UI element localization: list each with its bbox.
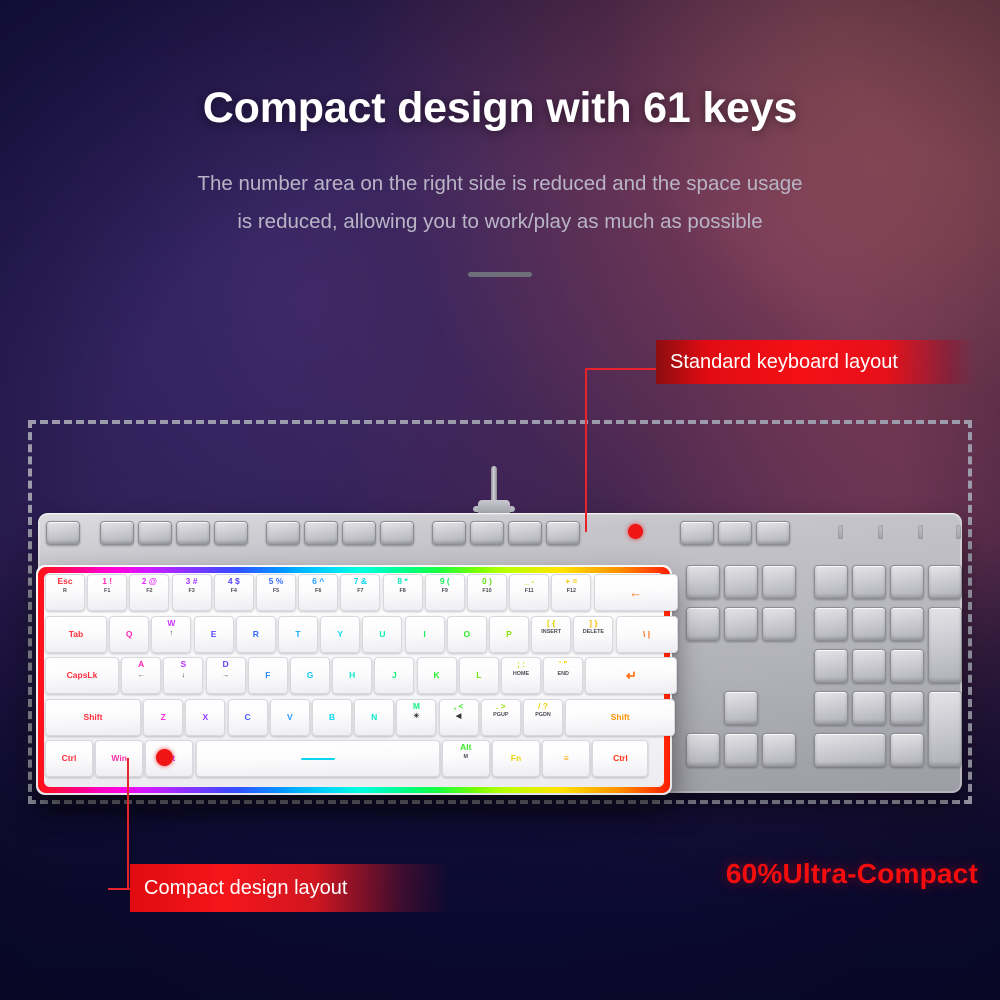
key-sublegend: F4 xyxy=(231,589,237,594)
key-sym-r3c9[interactable]: . >PGUP xyxy=(481,699,521,736)
key-sym-r1c12[interactable]: ] }DELETE xyxy=(573,616,613,653)
key-l-r2c9[interactable]: L xyxy=(459,657,499,694)
key-legend: Z xyxy=(161,713,166,722)
key-legend: W xyxy=(167,619,175,628)
key-legend: F xyxy=(265,671,270,680)
key-g-r2c5[interactable]: G xyxy=(290,657,330,694)
key-legend: 0 ) xyxy=(482,577,492,586)
subtitle-line-1: The number area on the right side is red… xyxy=(0,174,1000,195)
key-sublegend: END xyxy=(557,672,568,677)
fullsize-key-function xyxy=(214,521,248,545)
key-sublegend: → xyxy=(222,672,229,679)
spacebar-indicator xyxy=(301,758,335,760)
numpad-key xyxy=(852,691,886,725)
callout-line-top-vertical xyxy=(585,368,587,532)
key-legend: S xyxy=(181,660,187,669)
fullsize-key-nav xyxy=(762,607,796,641)
numpad-key xyxy=(890,691,924,725)
key-legend: Ctrl xyxy=(62,754,77,763)
key-tab-r1c0[interactable]: Tab xyxy=(45,616,107,653)
key-legend: K xyxy=(434,671,440,680)
key-legend: ↵ xyxy=(626,669,637,682)
key-sym-r1c11[interactable]: [ {INSERT xyxy=(531,616,571,653)
key-sublegend: F9 xyxy=(442,589,448,594)
key-legend: Alt xyxy=(460,743,471,752)
key-sublegend: F1 xyxy=(104,589,110,594)
key-sublegend: F10 xyxy=(482,589,491,594)
fullsize-key-arrow-up xyxy=(724,691,758,725)
key-legend: 5 % xyxy=(269,577,284,586)
key-z-r3c1[interactable]: Z xyxy=(143,699,183,736)
key-sym-r1c13[interactable]: \ | xyxy=(616,616,678,653)
key-sublegend: F8 xyxy=(399,589,405,594)
key-legend: R xyxy=(253,630,259,639)
key-6-r0c6[interactable]: 6 ^F6 xyxy=(298,574,338,611)
key-legend: . > xyxy=(496,702,506,711)
fullsize-key-function xyxy=(138,521,172,545)
indicator-led xyxy=(838,525,843,539)
key-d-r2c3[interactable]: D→ xyxy=(206,657,246,694)
key-sublegend: PGDN xyxy=(535,713,551,718)
key-legend: U xyxy=(379,630,385,639)
key-y-r1c6[interactable]: Y xyxy=(320,616,360,653)
numpad-key xyxy=(890,649,924,683)
callout-dot-top xyxy=(628,524,643,539)
key-shift-r3c11[interactable]: Shift xyxy=(565,699,675,736)
key-legend: J xyxy=(392,671,397,680)
key-sublegend: F7 xyxy=(357,589,363,594)
key-sublegend: HOME xyxy=(513,672,529,677)
key-7-r0c7[interactable]: 7 &F7 xyxy=(340,574,380,611)
key-legend: ' " xyxy=(559,660,567,669)
key-sym-r0c12[interactable]: + =F12 xyxy=(551,574,591,611)
key-legend: Shift xyxy=(84,713,103,722)
key-alt-r4c4[interactable]: AltM xyxy=(442,740,490,777)
key-legend: \ | xyxy=(643,630,650,639)
numpad-key xyxy=(890,607,924,641)
key-legend: Tab xyxy=(69,630,83,639)
key-legend: E xyxy=(211,630,217,639)
key-sublegend: F3 xyxy=(188,589,194,594)
key-win-r4c1[interactable]: Win xyxy=(95,740,143,777)
callout-standard-layout: Standard keyboard layout xyxy=(656,340,976,384)
key-9-r0c9[interactable]: 9 (F9 xyxy=(425,574,465,611)
fullsize-key-function xyxy=(432,521,466,545)
key-esc-r0c0[interactable]: EscR xyxy=(45,574,85,611)
key-legend: Win xyxy=(111,754,127,763)
fullsize-key-nav xyxy=(718,521,752,545)
key-b-r3c5[interactable]: B xyxy=(312,699,352,736)
fullsize-key-nav xyxy=(686,565,720,599)
rgb-backlight-ring: EscR1 !F12 @F23 #F34 $F45 %F56 ^F67 &F78… xyxy=(38,567,670,793)
key-legend: _ - xyxy=(524,577,534,586)
key-sublegend: ↑ xyxy=(170,630,174,637)
key-ctrl-r4c7[interactable]: Ctrl xyxy=(592,740,648,777)
key-shift-r3c0[interactable]: Shift xyxy=(45,699,141,736)
key-legend: O xyxy=(463,630,470,639)
key-space-r4c3[interactable] xyxy=(196,740,440,777)
fullsize-key-nav xyxy=(762,565,796,599)
key-x-r3c2[interactable]: X xyxy=(185,699,225,736)
fullsize-key-esc xyxy=(46,521,80,545)
key-f-r2c4[interactable]: F xyxy=(248,657,288,694)
ultra-compact-tagline: 60%Ultra-Compact xyxy=(0,858,978,890)
numpad-key xyxy=(852,607,886,641)
key-i-r1c8[interactable]: I xyxy=(405,616,445,653)
key-0-r0c10[interactable]: 0 )F10 xyxy=(467,574,507,611)
key-t-r1c5[interactable]: T xyxy=(278,616,318,653)
key-n-r3c6[interactable]: N xyxy=(354,699,394,736)
page-title: Compact design with 61 keys xyxy=(0,84,1000,133)
fullsize-key-function xyxy=(508,521,542,545)
key-legend: , < xyxy=(454,702,464,711)
key-u-r1c7[interactable]: U xyxy=(362,616,402,653)
key-legend: ← xyxy=(629,586,642,599)
key-legend: / ? xyxy=(538,702,548,711)
key-8-r0c8[interactable]: 8 *F8 xyxy=(383,574,423,611)
key-legend: Ctrl xyxy=(613,754,628,763)
key-sublegend: DELETE xyxy=(583,630,604,635)
key-legend: P xyxy=(506,630,512,639)
fullsize-key-nav xyxy=(724,565,758,599)
key-legend: [ { xyxy=(547,619,556,628)
fullsize-key-function xyxy=(100,521,134,545)
compact-keyboard-61: EscR1 !F12 @F23 #F34 $F45 %F56 ^F67 &F78… xyxy=(36,565,672,795)
compact-keyboard-face: EscR1 !F12 @F23 #F34 $F45 %F56 ^F67 &F78… xyxy=(44,573,664,787)
key-sublegend: ← xyxy=(138,672,145,679)
fullsize-key-arrow-down xyxy=(724,733,758,767)
key-legend: CapsLk xyxy=(67,671,98,680)
key-legend: C xyxy=(245,713,251,722)
indicator-led xyxy=(918,525,923,539)
key-1-r0c1[interactable]: 1 !F1 xyxy=(87,574,127,611)
key-sym-r4c6[interactable]: ≡ xyxy=(542,740,590,777)
fullsize-key-function xyxy=(304,521,338,545)
key-c-r3c3[interactable]: C xyxy=(228,699,268,736)
numpad-key xyxy=(852,649,886,683)
numpad-key-plus xyxy=(928,607,962,683)
key-s-r2c2[interactable]: S↓ xyxy=(163,657,203,694)
key-legend: N xyxy=(371,713,377,722)
key-w-r1c2[interactable]: W↑ xyxy=(151,616,191,653)
key-4-r0c4[interactable]: 4 $F4 xyxy=(214,574,254,611)
key-v-r3c4[interactable]: V xyxy=(270,699,310,736)
fullsize-key-arrow-left xyxy=(686,733,720,767)
key-r-r1c4[interactable]: R xyxy=(236,616,276,653)
callout-line-top-horizontal xyxy=(585,368,657,370)
numpad-key-dot xyxy=(890,733,924,767)
key-3-r0c3[interactable]: 3 #F3 xyxy=(172,574,212,611)
key-legend: 2 @ xyxy=(142,577,157,586)
key-q-r1c1[interactable]: Q xyxy=(109,616,149,653)
fullsize-key-nav xyxy=(724,607,758,641)
key-o-r1c9[interactable]: O xyxy=(447,616,487,653)
key-legend: Shift xyxy=(611,713,630,722)
key-sym-r2c10[interactable]: ; :HOME xyxy=(501,657,541,694)
key-sublegend: F5 xyxy=(273,589,279,594)
key-legend: 7 & xyxy=(354,577,367,586)
indicator-led xyxy=(956,525,961,539)
key-k-r2c8[interactable]: K xyxy=(417,657,457,694)
key-legend: Q xyxy=(126,630,133,639)
key-sym-r0c13[interactable]: ← xyxy=(594,574,678,611)
key-p-r1c10[interactable]: P xyxy=(489,616,529,653)
key-sublegend: ↓ xyxy=(182,672,186,679)
fullsize-key-function xyxy=(266,521,300,545)
fullsize-key-function xyxy=(546,521,580,545)
key-5-r0c5[interactable]: 5 %F5 xyxy=(256,574,296,611)
numpad-key xyxy=(890,565,924,599)
fullsize-key-nav xyxy=(756,521,790,545)
key-sublegend: M xyxy=(464,755,469,760)
numpad-key xyxy=(814,565,848,599)
key-sym-r3c8[interactable]: , <◀ xyxy=(439,699,479,736)
key-legend: 1 ! xyxy=(102,577,112,586)
key-sym-r2c11[interactable]: ' "END xyxy=(543,657,583,694)
key-legend: + = xyxy=(565,577,577,586)
key-legend: A xyxy=(138,660,144,669)
key-2-r0c2[interactable]: 2 @F2 xyxy=(129,574,169,611)
fullsize-key-nav xyxy=(680,521,714,545)
key-sublegend: F2 xyxy=(146,589,152,594)
key-sublegend: F12 xyxy=(567,589,576,594)
key-legend: M xyxy=(413,702,420,711)
numpad-key-enter xyxy=(928,691,962,767)
key-e-r1c3[interactable]: E xyxy=(194,616,234,653)
key-legend: 8 * xyxy=(397,577,407,586)
callout-dot-alt-key xyxy=(156,749,173,766)
key-h-r2c6[interactable]: H xyxy=(332,657,372,694)
key-sublegend: ☀ xyxy=(413,713,419,720)
key-legend: ] } xyxy=(589,619,598,628)
key-legend: D xyxy=(223,660,229,669)
indicator-led xyxy=(878,525,883,539)
key-sublegend: F6 xyxy=(315,589,321,594)
key-fn-r4c5[interactable]: Fn xyxy=(492,740,540,777)
fullsize-key-arrow-right xyxy=(762,733,796,767)
key-legend: ; : xyxy=(517,660,525,669)
numpad-key xyxy=(814,649,848,683)
numpad-key xyxy=(814,691,848,725)
numpad-key-zero xyxy=(814,733,886,767)
key-legend: 3 # xyxy=(186,577,198,586)
key-legend: Fn xyxy=(511,754,521,763)
key-a-r2c1[interactable]: A← xyxy=(121,657,161,694)
key-legend: L xyxy=(476,671,481,680)
key-sublegend: R xyxy=(63,589,67,594)
key-capslk-r2c0[interactable]: CapsLk xyxy=(45,657,119,694)
numpad-key xyxy=(852,565,886,599)
key-legend: ≡ xyxy=(564,754,569,763)
key-sym-r3c10[interactable]: / ?PGDN xyxy=(523,699,563,736)
fullsize-key-nav xyxy=(686,607,720,641)
subtitle-line-2: is reduced, allowing you to work/play as… xyxy=(0,212,1000,233)
key-legend: G xyxy=(307,671,314,680)
numpad-key xyxy=(928,565,962,599)
key-m-r3c7[interactable]: M☀ xyxy=(396,699,436,736)
key-sublegend: PGUP xyxy=(493,713,508,718)
key-legend: B xyxy=(329,713,335,722)
key-sym-r0c11[interactable]: _ -F11 xyxy=(509,574,549,611)
key-legend: Y xyxy=(337,630,343,639)
key-legend: X xyxy=(203,713,209,722)
key-ctrl-r4c0[interactable]: Ctrl xyxy=(45,740,93,777)
key-j-r2c7[interactable]: J xyxy=(374,657,414,694)
key-legend: 4 $ xyxy=(228,577,240,586)
title-divider xyxy=(468,272,532,277)
key-legend: H xyxy=(349,671,355,680)
key-sym-r2c12[interactable]: ↵ xyxy=(585,657,677,694)
key-legend: V xyxy=(287,713,293,722)
key-legend: T xyxy=(295,630,300,639)
key-legend: 6 ^ xyxy=(312,577,324,586)
numpad-key xyxy=(814,607,848,641)
fullsize-key-function xyxy=(176,521,210,545)
callout-standard-layout-label: Standard keyboard layout xyxy=(670,351,898,374)
fullsize-key-function xyxy=(342,521,376,545)
key-sublegend: INSERT xyxy=(541,630,561,635)
key-sublegend: F11 xyxy=(525,589,534,594)
key-legend: I xyxy=(423,630,425,639)
fullsize-key-function xyxy=(470,521,504,545)
key-sublegend: ◀ xyxy=(456,713,461,720)
key-legend: Esc xyxy=(57,577,72,586)
product-banner: Compact design with 61 keys The number a… xyxy=(0,0,1000,1000)
fullsize-key-function xyxy=(380,521,414,545)
key-legend: 9 ( xyxy=(440,577,450,586)
